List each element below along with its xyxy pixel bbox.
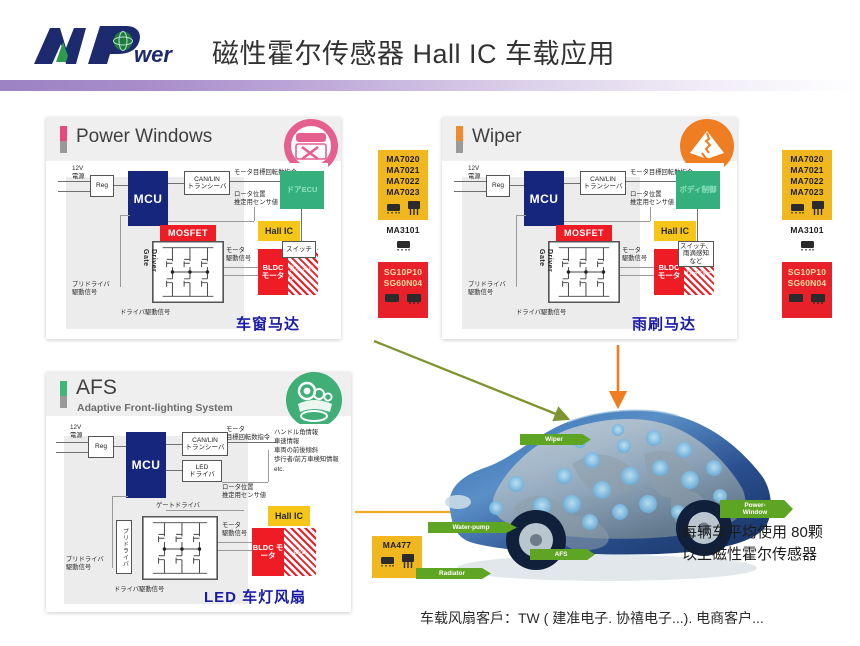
chip-package-row xyxy=(378,238,428,251)
badge-power-windows: 车窗马达 xyxy=(236,313,300,334)
chip-line: MA477 xyxy=(372,540,422,551)
chip-line: MA7022 xyxy=(378,176,428,187)
label-power-afs: 12V 電源 xyxy=(70,424,83,440)
badge-afs: LED 车灯风扇 xyxy=(204,586,306,607)
panel-wiper[interactable]: Wiper 12V 電源 Reg MCU CAN/LIN トランシーバ モータ目… xyxy=(442,117,737,339)
chip-package-row xyxy=(372,553,422,569)
car-label-afs: AFS xyxy=(530,549,595,560)
car-label-water-pump: Water-pump xyxy=(428,522,517,533)
label-rotor-pos-wp: ロータ位置 推定用センサ値 xyxy=(630,191,674,207)
panel-title-wiper: Wiper xyxy=(472,126,522,148)
chip-line: SG60N04 xyxy=(782,278,832,289)
chip-card-ma7020-pw: MA7020 MA7021 MA7022 MA7023 xyxy=(378,150,428,220)
accent-bar-wiper xyxy=(456,126,463,153)
block-bridge-wp xyxy=(548,241,620,303)
block-ecu-wp: ボディ制御 xyxy=(676,171,720,209)
chip-card-ma7020-wp: MA7020 MA7021 MA7022 MA7023 xyxy=(782,150,832,220)
label-driver-wp: Driver xyxy=(546,249,553,272)
chip-line: MA7022 xyxy=(782,176,832,187)
block-mosfet-wp: MOSFET xyxy=(556,225,612,241)
block-predriver-afs: プリドライバ xyxy=(116,520,132,574)
chip-card-sg-wp: SG10P10 SG60N04 xyxy=(782,262,832,318)
block-led-load-afs: LED xyxy=(284,528,316,576)
block-bridge-afs xyxy=(142,516,218,580)
block-reg-pw: Reg xyxy=(90,175,114,197)
dpak-package-icon xyxy=(405,291,423,305)
headlight-gear-icon-svg xyxy=(286,372,342,428)
label-power-wp: 12V 電源 xyxy=(468,165,481,181)
mpower-logo: wer xyxy=(30,22,205,70)
block-mcu-pw: MCU xyxy=(128,171,168,226)
label-predriver-pw: プリドライバ 駆動信号 xyxy=(72,281,110,297)
panel-title-afs: AFS xyxy=(76,376,117,400)
chip-line: MA7020 xyxy=(378,154,428,165)
block-ecu-pw: ドアECU xyxy=(280,171,324,209)
label-rotor-pos-pw: ロータ位置 推定用センサ値 xyxy=(234,191,278,207)
annotation-note-line2: 以上磁性霍尔传感器 xyxy=(682,544,823,566)
chip-card-ma3101-pw: MA3101 xyxy=(378,222,428,258)
soic-package-icon xyxy=(787,291,805,305)
headlight-gear-icon xyxy=(286,372,342,428)
chip-package-row xyxy=(378,291,428,305)
bottom-caption: 车载风扇客戶：TW ( 建准电子. 协禧电子...). 电商客户... xyxy=(420,608,764,628)
block-hall-ic-wp: Hall IC xyxy=(654,221,696,241)
block-hall-ic-afs: Hall IC xyxy=(268,506,310,526)
label-info-list-afs: ハンドル角情報 車速情報 車両の前後傾斜 歩行者/前方車検知情報 etc. xyxy=(274,428,339,474)
block-transceiver-wp: CAN/LIN トランシーバ xyxy=(580,171,626,195)
car-label-wiper: Wiper xyxy=(520,434,591,445)
chip-line: MA7021 xyxy=(378,165,428,176)
soic-package-icon xyxy=(789,201,806,214)
slide-root: wer 磁性霍尔传感器 Hall IC 车载应用 Power Windows 1… xyxy=(0,0,860,646)
block-transceiver-pw: CAN/LIN トランシーバ xyxy=(184,171,230,195)
annotation-note-line1: 每辆车平均使用 80颗 xyxy=(682,522,823,544)
accent-bar-power-windows xyxy=(60,126,67,153)
page-title: 磁性霍尔传感器 Hall IC 车载应用 xyxy=(212,32,615,71)
label-driver-sig-pw: ドライバ駆動信号 xyxy=(120,309,170,317)
chip-line: MA3101 xyxy=(378,225,428,236)
chip-package-row xyxy=(782,200,832,216)
chip-card-ma477-afs: MA477 xyxy=(372,536,422,578)
chip-line: SG10P10 xyxy=(782,267,832,278)
block-hall-ic-pw: Hall IC xyxy=(258,221,300,241)
badge-wiper: 雨刷马达 xyxy=(632,313,696,334)
block-mosfet-pw: MOSFET xyxy=(160,225,216,241)
block-mcu-afs: MCU xyxy=(126,432,166,498)
header-divider-bar xyxy=(0,80,860,91)
label-driver-sig-afs: ドライバ駆動信号 xyxy=(114,586,164,594)
block-led-driver-afs: LED ドライバ xyxy=(182,460,222,482)
car-label-power-window: Power- Window xyxy=(720,500,793,518)
panel-afs[interactable]: AFS Adaptive Front-lighting System 12V 電… xyxy=(46,372,351,612)
chip-package-row xyxy=(782,291,832,305)
chip-line: MA7020 xyxy=(782,154,832,165)
chip-line: MA7023 xyxy=(782,187,832,198)
soic-package-icon xyxy=(799,238,816,251)
diagram-afs: 12V 電源 Reg MCU CAN/LIN トランシーバ LED ドライバ モ… xyxy=(56,424,346,608)
label-rotor-pos-afs: ロータ位置 推定用センサ値 xyxy=(222,484,266,500)
block-reg-wp: Reg xyxy=(486,175,510,197)
label-motor-drive-afs: モータ 駆動信号 xyxy=(222,522,247,538)
panel-power-windows[interactable]: Power Windows 12V 電源 Reg MCU CAN/LIN トラン… xyxy=(46,117,341,339)
block-transceiver-afs: CAN/LIN トランシーバ xyxy=(182,432,228,456)
label-motor-drive-pw: モータ 駆動信号 xyxy=(226,247,251,263)
label-motor-drive-wp: モータ 駆動信号 xyxy=(622,247,647,263)
label-gate-pw: Gate xyxy=(142,249,149,267)
label-driver-pw: Driver xyxy=(150,249,157,272)
block-switch-wp: スイッチ、 雨滴感知 など xyxy=(678,241,714,267)
slide-header: wer 磁性霍尔传感器 Hall IC 车载应用 xyxy=(0,0,860,80)
to220-package-icon xyxy=(810,200,826,216)
label-gate-wp: Gate xyxy=(538,249,545,267)
label-speed-cmd-afs: モータ 目標回転数指令 xyxy=(226,426,270,442)
soic-package-icon xyxy=(385,201,402,214)
to220-package-icon xyxy=(406,200,422,216)
soic-package-icon xyxy=(383,291,401,305)
panel-title-power-windows: Power Windows xyxy=(76,126,212,148)
chip-package-row xyxy=(378,200,428,216)
svg-text:wer: wer xyxy=(134,42,173,67)
dpak-package-icon xyxy=(809,291,827,305)
block-mcu-wp: MCU xyxy=(524,171,564,226)
label-predriver-wp: プリドライバ 駆動信号 xyxy=(468,281,506,297)
chip-card-sg-pw: SG10P10 SG60N04 xyxy=(378,262,428,318)
diagram-wiper: 12V 電源 Reg MCU CAN/LIN トランシーバ モータ目標回転数指令… xyxy=(454,163,724,331)
label-gate-driver-afs: ゲートドライバ xyxy=(156,502,200,510)
chip-line: SG10P10 xyxy=(378,267,428,278)
bridge-schematic-wp xyxy=(549,241,619,303)
chip-line: MA3101 xyxy=(782,225,832,236)
chip-card-ma3101-wp: MA3101 xyxy=(782,222,832,258)
chip-line: MA7023 xyxy=(378,187,428,198)
diagram-power-windows: 12V 電源 Reg MCU CAN/LIN トランシーバ モータ目標回転数指令… xyxy=(58,163,328,331)
annotation-note: 每辆车平均使用 80颗 以上磁性霍尔传感器 xyxy=(682,522,823,566)
block-reg-afs: Reg xyxy=(88,436,114,458)
soic-package-icon xyxy=(379,554,396,567)
accent-bar-afs xyxy=(60,381,67,408)
block-switch-pw: スイッチ xyxy=(282,241,316,258)
label-predriver-block-afs: プリドライバ xyxy=(121,528,128,567)
panel-subtitle-afs: Adaptive Front-lighting System xyxy=(77,402,233,414)
soic-package-icon xyxy=(395,238,412,251)
bridge-schematic-afs xyxy=(143,516,217,580)
chip-package-row xyxy=(782,238,832,251)
label-driver-sig-wp: ドライバ駆動信号 xyxy=(516,309,566,317)
label-power-pw: 12V 電源 xyxy=(72,165,85,181)
car-label-radiator: Radiator xyxy=(416,568,491,579)
bridge-schematic-pw xyxy=(153,241,223,303)
label-predriver-sig-afs: プリドライバ 駆動信号 xyxy=(66,556,104,572)
chip-line: MA7021 xyxy=(782,165,832,176)
block-bridge-pw xyxy=(152,241,224,303)
chip-line: SG60N04 xyxy=(378,278,428,289)
mpower-logo-svg: wer xyxy=(30,22,205,70)
to220-package-icon xyxy=(400,553,416,569)
block-bldc-afs: BLDC モータ xyxy=(252,528,284,576)
